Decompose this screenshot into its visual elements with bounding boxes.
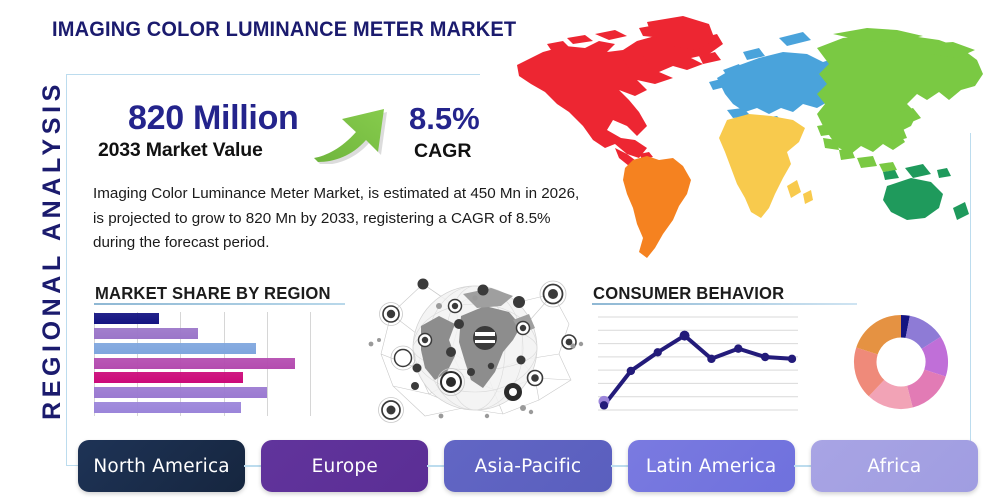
line-marker <box>707 355 715 363</box>
consumer-behavior-line-chart <box>598 311 798 416</box>
line-marker <box>761 353 769 361</box>
market-value-caption: 2033 Market Value <box>98 139 263 162</box>
line-marker <box>680 331 690 341</box>
region-pill-label: Europe <box>312 456 378 477</box>
consumer-behavior-donut-chart <box>852 313 950 411</box>
bar-row <box>94 358 295 369</box>
section-rule-market-share <box>94 303 345 305</box>
bar-gridline <box>310 312 311 416</box>
region-pill-asia-pacific[interactable]: Asia-Pacific <box>444 440 611 492</box>
map-region-south-america <box>623 156 691 258</box>
map-region-europe <box>717 52 839 114</box>
region-pill-latin-america[interactable]: Latin America <box>628 440 795 492</box>
pill-connector <box>427 465 445 467</box>
section-header-consumer-behavior: CONSUMER BEHAVIOR <box>593 283 784 304</box>
bar-fill <box>94 358 295 369</box>
growth-arrow-icon <box>312 82 402 164</box>
section-rule-consumer-behavior <box>592 303 857 305</box>
bar-fill <box>94 313 159 324</box>
bar-row <box>94 313 159 324</box>
bar-row <box>94 343 256 354</box>
donut-segment <box>907 370 946 408</box>
bar-fill <box>94 387 267 398</box>
bar-fill <box>94 343 256 354</box>
pill-connector <box>611 465 629 467</box>
region-pill-row: North AmericaEuropeAsia-PacificLatin Ame… <box>78 440 978 492</box>
cagr-caption: CAGR <box>414 140 471 163</box>
pill-connector <box>794 465 812 467</box>
map-region-africa <box>719 114 805 218</box>
line-marker <box>600 401 608 409</box>
market-share-bar-chart <box>94 312 310 416</box>
line-marker <box>627 367 635 375</box>
region-pill-label: Africa <box>867 456 921 477</box>
bar-fill <box>94 328 198 339</box>
region-pill-north-america[interactable]: North America <box>78 440 245 492</box>
region-pill-label: Asia-Pacific <box>475 456 582 477</box>
donut-segment <box>856 315 901 354</box>
world-map-icon <box>487 8 992 273</box>
market-value-figure: 820 Million <box>128 99 299 138</box>
bar-row <box>94 387 267 398</box>
section-header-market-share: MARKET SHARE BY REGION <box>95 283 331 304</box>
cagr-figure: 8.5% <box>409 101 480 137</box>
pill-connector <box>244 465 262 467</box>
bar-fill <box>94 402 241 413</box>
bar-row <box>94 328 198 339</box>
line-marker <box>734 344 742 352</box>
line-marker <box>654 348 662 356</box>
map-region-oceania <box>883 178 943 220</box>
region-pill-europe[interactable]: Europe <box>261 440 428 492</box>
region-pill-label: North America <box>93 456 230 477</box>
globe-network-icon <box>363 276 588 424</box>
page-title: IMAGING COLOR LUMINANCE METER MARKET <box>52 17 516 42</box>
line-marker <box>788 355 796 363</box>
bar-row <box>94 402 241 413</box>
bar-row <box>94 372 243 383</box>
infographic-canvas: REGIONAL ANALYSIS IMAGING COLOR LUMINANC… <box>0 0 1000 500</box>
region-pill-africa[interactable]: Africa <box>811 440 978 492</box>
map-region-north-america <box>517 32 723 158</box>
bar-fill <box>94 372 243 383</box>
region-pill-label: Latin America <box>646 456 777 477</box>
